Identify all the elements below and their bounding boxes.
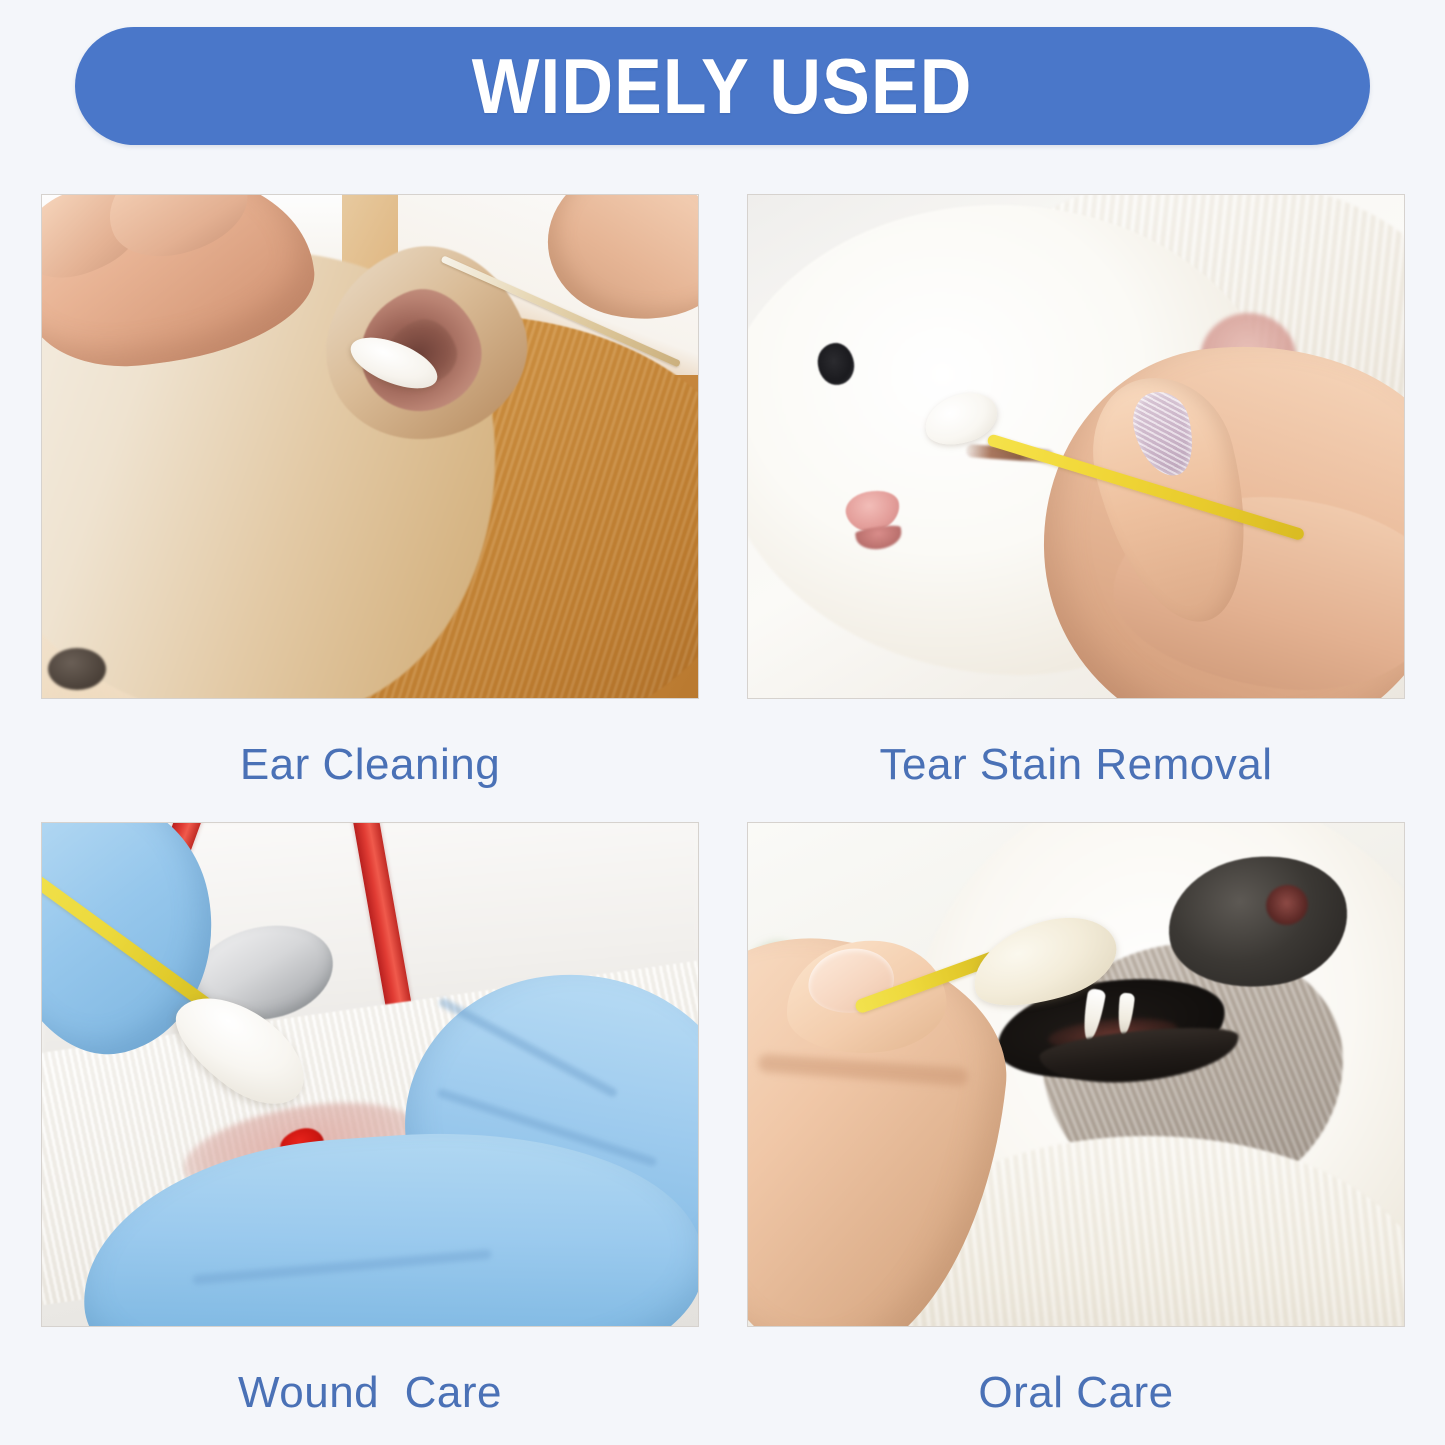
- use-case-caption: Oral Care: [748, 1326, 1404, 1417]
- use-case-caption: Ear Cleaning: [42, 698, 698, 789]
- use-case-caption: Wound Care: [42, 1326, 698, 1417]
- photo-ear-cleaning: [42, 195, 698, 698]
- photo-tear-stain-removal: [748, 195, 1404, 698]
- dog-nose: [48, 648, 106, 690]
- use-case-card-wound-care[interactable]: Wound Care: [42, 823, 698, 1417]
- use-case-card-oral-care[interactable]: Oral Care: [748, 823, 1404, 1417]
- finger: [96, 195, 259, 272]
- use-case-card-tear-stain-removal[interactable]: Tear Stain Removal: [748, 195, 1404, 789]
- use-case-caption: Tear Stain Removal: [748, 698, 1404, 789]
- infographic-page: WIDELY USED Ear Clea: [0, 0, 1445, 1445]
- use-case-grid: Ear Cleaning Tear Stain Removal: [42, 195, 1403, 1385]
- photo-wound-care: [42, 823, 698, 1326]
- page-title: WIDELY USED: [472, 47, 973, 125]
- header-banner: WIDELY USED: [75, 27, 1370, 145]
- photo-oral-care: [748, 823, 1404, 1326]
- use-case-card-ear-cleaning[interactable]: Ear Cleaning: [42, 195, 698, 789]
